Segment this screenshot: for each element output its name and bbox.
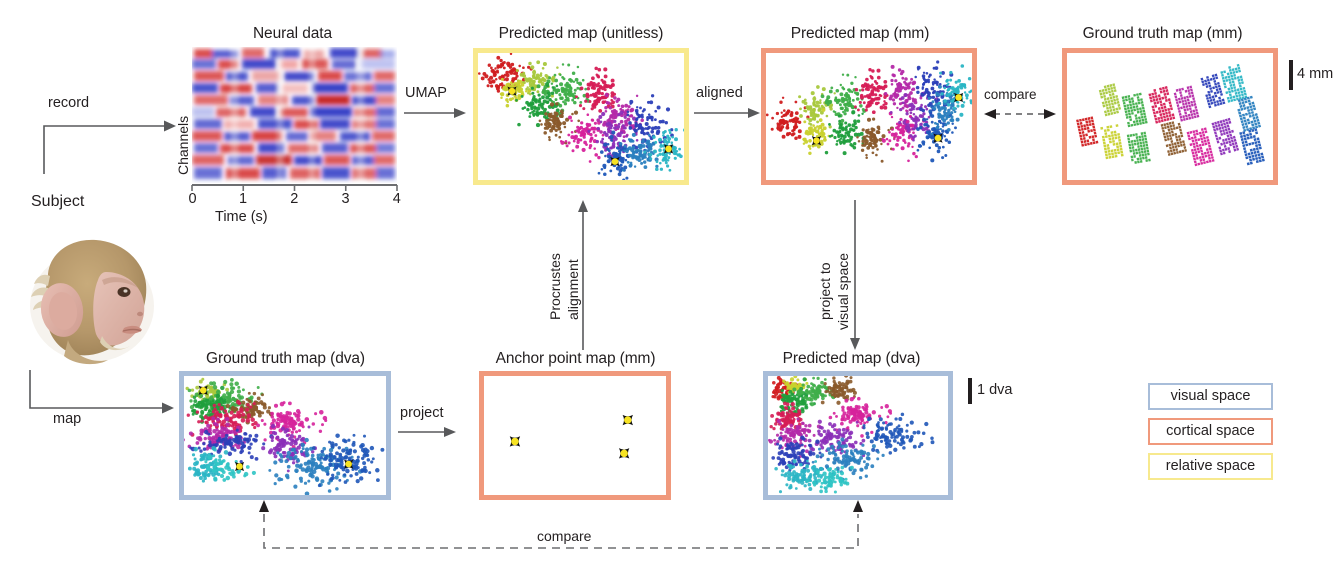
predicted-dva-title: Predicted map (dva) <box>744 350 959 368</box>
arrow-record <box>36 78 186 178</box>
ground-truth-dva-title: Ground truth map (dva) <box>178 350 393 368</box>
arrow-map <box>22 370 182 440</box>
arrow-label-compare-top: compare <box>984 87 1037 102</box>
legend-item-relative-space[interactable]: relative space <box>1148 453 1273 480</box>
neural-data-heatmap <box>192 47 397 183</box>
predicted-dva-panel[interactable] <box>763 371 953 500</box>
predicted-unitless-panel[interactable] <box>473 48 689 185</box>
neural-data-xlabel: Time (s) <box>215 209 268 225</box>
arrow-umap <box>404 105 468 121</box>
subject-label: Subject <box>31 193 84 211</box>
legend-item-cortical-space[interactable]: cortical space <box>1148 418 1273 445</box>
anchor-point-mm-title: Anchor point map (mm) <box>468 350 683 368</box>
scalebar-1dva-line <box>968 378 972 404</box>
scalebar-1dva-label: 1 dva <box>977 382 1012 398</box>
arrow-label-record: record <box>48 95 89 111</box>
arrow-label-aligned: aligned <box>696 85 743 101</box>
scalebar-4mm-line <box>1289 60 1293 90</box>
arrow-project <box>398 424 460 440</box>
predicted-mm-scatter <box>766 53 972 180</box>
xtick-4: 4 <box>392 191 401 207</box>
ground-truth-dva-panel[interactable] <box>179 371 391 500</box>
arrow-label-projvis-1: project to <box>818 262 833 320</box>
xtick-0: 0 <box>188 191 197 207</box>
neural-data-title: Neural data <box>185 25 400 43</box>
predicted-mm-panel[interactable] <box>761 48 977 185</box>
predicted-dva-scatter <box>768 376 948 495</box>
arrow-label-procrustes-wrap2: alignment <box>566 320 627 335</box>
arrow-label-procrustes-1: Procrustes <box>548 253 563 320</box>
ground-truth-mm-title: Ground truth map (mm) <box>1055 25 1270 43</box>
ground-truth-dva-scatter <box>184 376 386 495</box>
xtick-3: 3 <box>341 191 350 207</box>
xtick-1: 1 <box>239 191 248 207</box>
ground-truth-mm-panel[interactable] <box>1062 48 1278 185</box>
predicted-unitless-title: Predicted map (unitless) <box>466 25 696 43</box>
legend-item-visual-space[interactable]: visual space <box>1148 383 1273 410</box>
arrow-label-compare-bottom: compare <box>537 528 591 544</box>
arrow-compare-top <box>982 106 1058 122</box>
arrow-label-projvis-2: visual space <box>836 253 851 330</box>
neural-data-ylabel: Channels <box>175 116 191 175</box>
arrow-label-projvis-wrap2: visual space <box>836 330 913 345</box>
legend: visual space cortical space relative spa… <box>1148 383 1273 480</box>
ground-truth-mm-patches <box>1067 53 1273 180</box>
predicted-mm-title: Predicted map (mm) <box>760 25 960 43</box>
anchor-point-mm-panel[interactable] <box>479 371 671 500</box>
neural-data-xticks: 0 1 2 3 4 <box>188 191 403 209</box>
arrow-label-project: project <box>400 405 444 421</box>
anchor-point-mm-scatter <box>484 376 666 495</box>
scalebar-4mm-label: 4 mm <box>1297 66 1333 82</box>
arrow-label-procrustes-2: alignment <box>566 259 581 320</box>
arrow-label-map: map <box>53 411 81 427</box>
arrow-label-umap: UMAP <box>405 85 447 101</box>
arrow-aligned <box>694 105 764 121</box>
macaque-head-illustration <box>20 228 180 368</box>
predicted-unitless-scatter <box>478 53 684 180</box>
xtick-2: 2 <box>290 191 299 207</box>
